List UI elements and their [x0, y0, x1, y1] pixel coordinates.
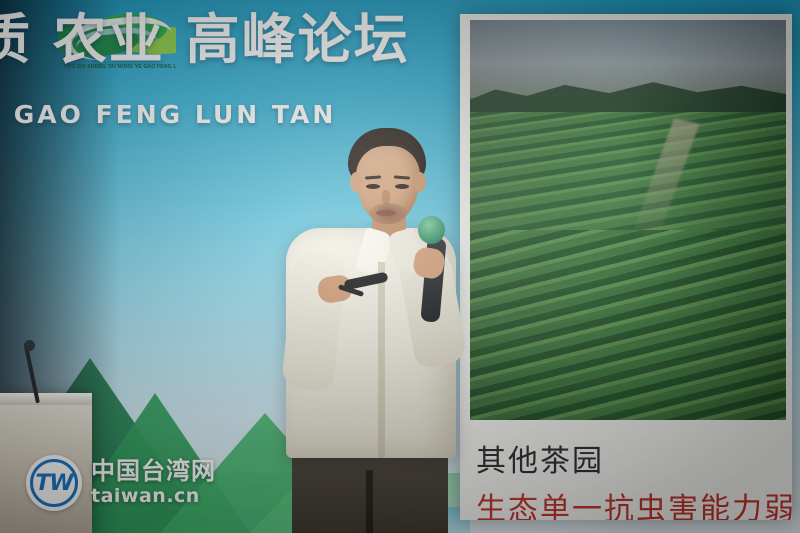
- watermark-site-name: 中国台湾网: [91, 459, 216, 484]
- watermark-monogram: TW: [26, 455, 82, 511]
- presenter-ear-right: [414, 172, 426, 192]
- presenter-trouser-seam: [366, 470, 373, 533]
- watermark-logo-icon: TW: [26, 455, 82, 511]
- screenshot-root: YOU ZHI SHENG TAI NONG YE GAO FENG LUN T…: [0, 0, 800, 533]
- watermark-site-url: taiwan.cn: [91, 487, 216, 507]
- presenter-ear-left: [350, 172, 362, 192]
- presenter-shirt-placket: [378, 262, 385, 458]
- presenter: [0, 0, 800, 533]
- presenter-nose: [382, 190, 390, 204]
- presenter-eye-right: [395, 184, 409, 189]
- watermark: TW 中国台湾网 taiwan.cn: [26, 455, 216, 511]
- presenter-eye-left: [366, 184, 380, 189]
- presenter-mouth: [376, 210, 396, 216]
- watermark-text: 中国台湾网 taiwan.cn: [91, 459, 216, 506]
